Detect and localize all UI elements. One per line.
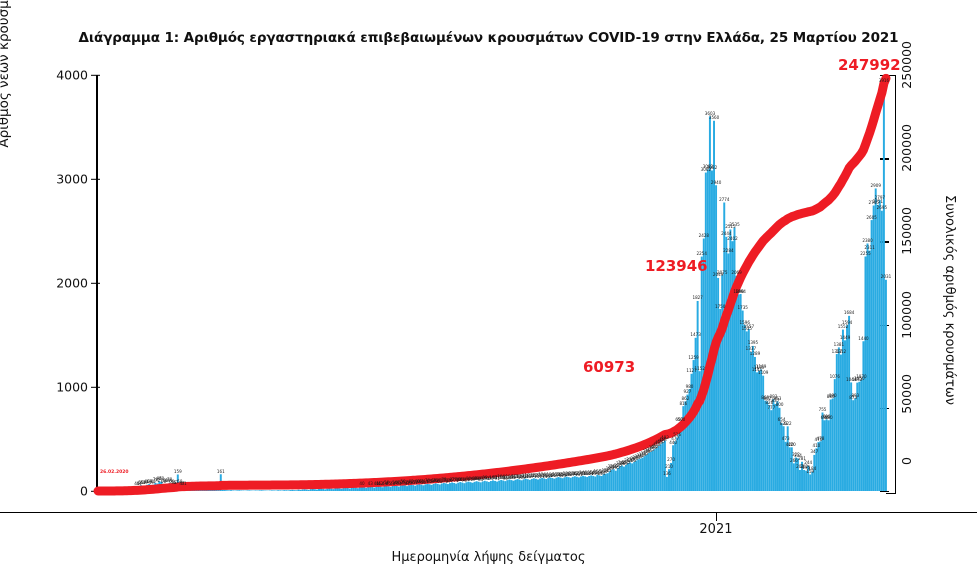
annotation-total-247992: 247992 <box>838 56 901 74</box>
y-tick-left-0: 0 <box>80 484 88 499</box>
y-tick-right-0: 0 <box>899 457 914 465</box>
y-tick-left-4000: 4000 <box>56 68 88 83</box>
y-tick-right-100000: 100000 <box>899 291 914 339</box>
chart-root: Διάγραμμα 1: Αριθμός εργαστηριακά επιβεβ… <box>0 0 977 579</box>
y-axis-right-title: Συνολικός αριθμός κρουσμάτων <box>942 170 957 430</box>
x-axis-line <box>0 512 977 513</box>
y-tick-right-200000: 200000 <box>899 124 914 172</box>
chart-title: Διάγραμμα 1: Αριθμός εργαστηριακά επιβεβ… <box>0 30 977 46</box>
y-tick-left-2000: 2000 <box>56 276 88 291</box>
y-tick-right-mark-0 <box>880 491 889 492</box>
annotation-start: 26.02.2020 <box>100 470 128 475</box>
annotation-mid-123946: 123946 <box>645 257 708 275</box>
y-tick-right-150000: 150000 <box>899 207 914 255</box>
y-axis-left-title: Αριθμός νέων κρουσμάτων <box>0 0 12 196</box>
x-tick-mark <box>716 512 717 521</box>
y-axis-right-bracket <box>886 75 896 494</box>
annotation-mid-60973: 60973 <box>583 358 635 376</box>
y-tick-left-1000: 1000 <box>56 380 88 395</box>
y-tick-right-250000: 250000 <box>899 41 914 89</box>
x-axis-title: Ημερομηνία λήψης δείγματος <box>0 550 977 565</box>
y-tick-right-50000: 50000 <box>899 374 914 414</box>
cumulative-line-path <box>98 78 886 491</box>
cumulative-line <box>97 75 887 491</box>
x-tick-label-2021: 2021 <box>699 522 732 537</box>
plot-area: 4044565349606749617872958866686978665657… <box>97 75 887 491</box>
y-tick-left-3000: 3000 <box>56 172 88 187</box>
